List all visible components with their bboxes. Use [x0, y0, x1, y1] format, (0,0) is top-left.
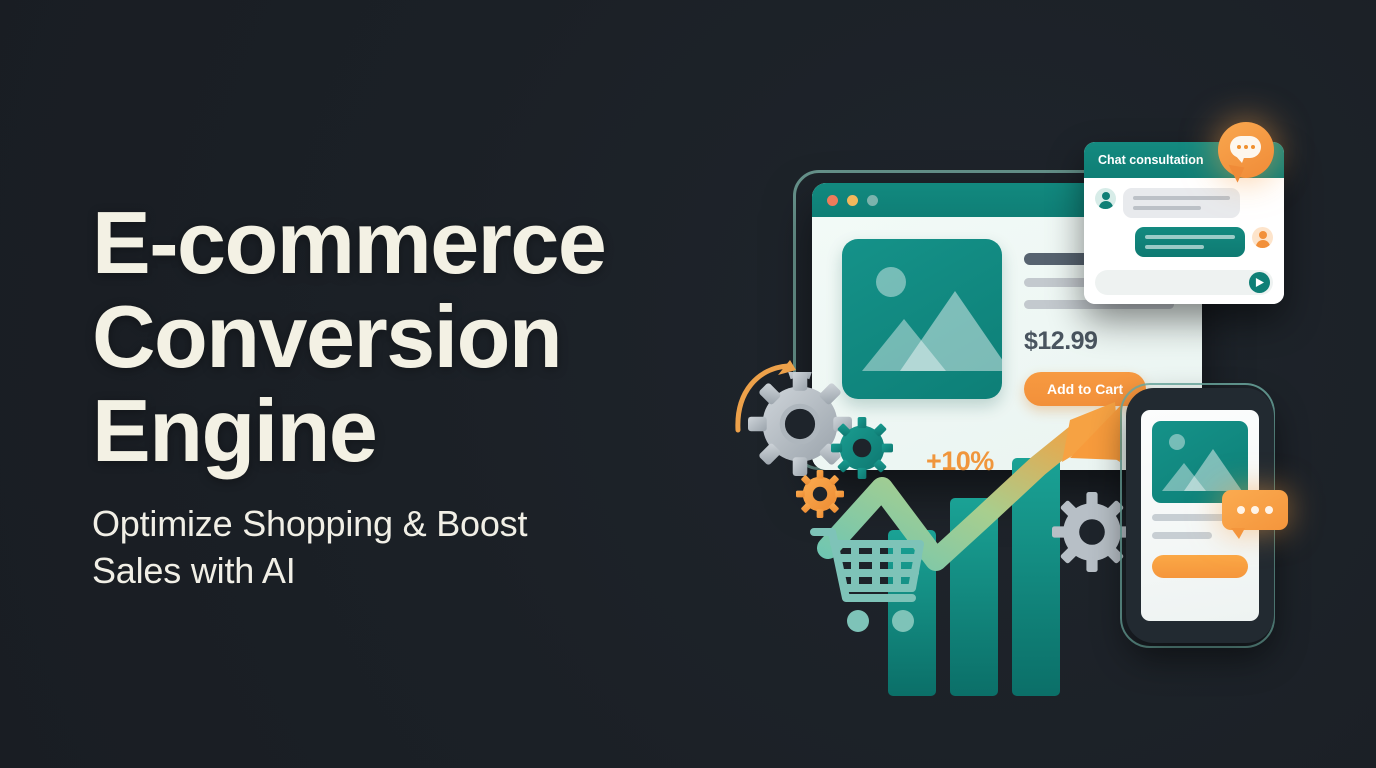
sun-shape: [1169, 434, 1185, 450]
chat-message-incoming: [1095, 188, 1273, 218]
dot-icon: [1265, 506, 1273, 514]
mountain-shape-large: [1184, 449, 1242, 491]
message-line: [1133, 196, 1230, 200]
message-line: [1133, 206, 1201, 210]
user-avatar-teal: [1095, 188, 1116, 209]
phone-text-line: [1152, 532, 1212, 539]
page-title: E-commerce Conversion Engine: [92, 196, 732, 478]
phone-cta-button[interactable]: [1152, 555, 1248, 578]
dot-icon: [1251, 506, 1259, 514]
chat-badge-circle: [1218, 122, 1274, 178]
gray-dot-icon[interactable]: [867, 195, 878, 206]
dot-icon: [1237, 145, 1241, 149]
shopping-cart-icon: [808, 520, 938, 640]
user-avatar-orange: [1252, 227, 1273, 248]
typing-dots-icon[interactable]: [1222, 490, 1288, 530]
hero-banner: E-commerce Conversion Engine Optimize Sh…: [0, 0, 1376, 768]
message-line: [1145, 245, 1204, 249]
dot-icon: [1237, 506, 1245, 514]
dot-icon: [1244, 145, 1248, 149]
mountain-shape-large: [900, 291, 1002, 371]
product-price: $12.99: [1024, 327, 1097, 356]
chat-message-list: [1084, 178, 1284, 304]
chat-panel-title: Chat consultation: [1098, 153, 1204, 167]
chat-badge-tail: [1226, 165, 1245, 184]
yellow-dot-icon[interactable]: [847, 195, 858, 206]
message-bubble-incoming: [1123, 188, 1240, 218]
message-line: [1145, 235, 1235, 239]
red-dot-icon[interactable]: [827, 195, 838, 206]
page-subtitle: Optimize Shopping & Boost Sales with AI: [92, 500, 732, 594]
speech-bubble-icon: [1230, 136, 1261, 158]
chat-bubble-icon[interactable]: [1218, 122, 1274, 178]
growth-percent-label: +10%: [926, 446, 994, 477]
dot-icon: [1251, 145, 1255, 149]
message-bubble-outgoing: [1135, 227, 1245, 257]
chat-message-outgoing: [1095, 227, 1273, 257]
gear-icon-orange: [796, 470, 844, 518]
image-placeholder-icon: [842, 239, 1002, 399]
illustration: +10%: [700, 60, 1376, 740]
hero-copy: E-commerce Conversion Engine Optimize Sh…: [92, 196, 732, 594]
send-icon[interactable]: [1249, 272, 1270, 293]
chat-input-field[interactable]: [1095, 270, 1273, 295]
